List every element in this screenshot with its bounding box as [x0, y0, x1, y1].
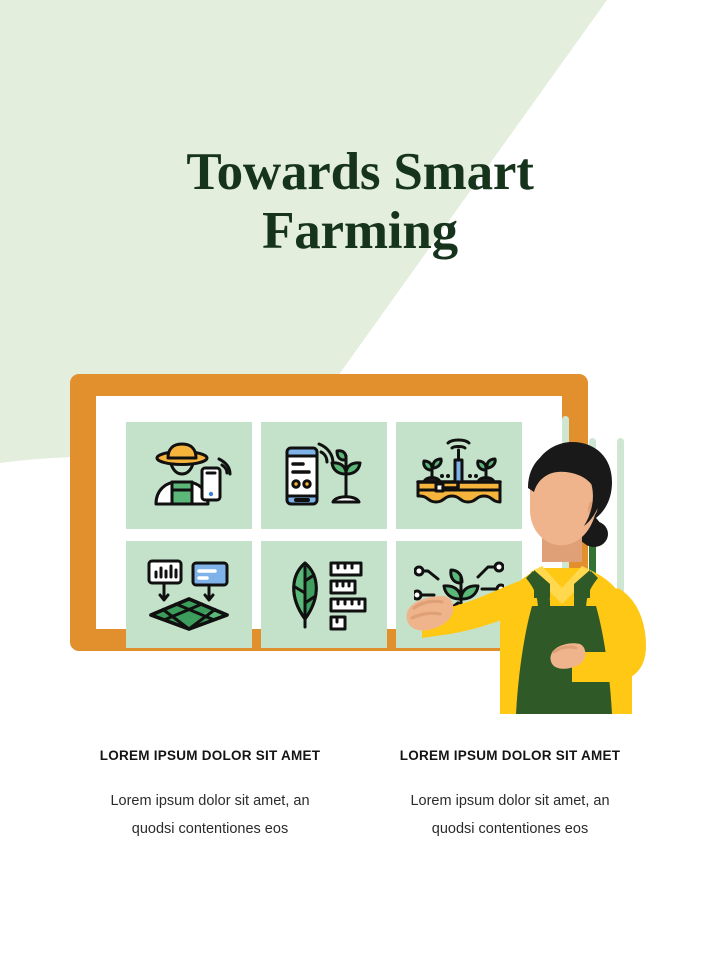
- column-1-heading: LOREM IPSUM DOLOR SIT AMET: [60, 748, 360, 763]
- page-title-line-2: Farming: [262, 202, 458, 260]
- icon-tile-field-data-analytics[interactable]: [126, 541, 252, 648]
- title-block: Towards Smart Farming: [60, 143, 660, 262]
- field-data-analytics-icon: [145, 557, 233, 633]
- poster-page: Towards Smart Farming: [0, 0, 720, 960]
- text-column-2: LOREM IPSUM DOLOR SIT AMET Lorem ipsum d…: [360, 748, 660, 844]
- page-title-line-1: Towards Smart: [186, 143, 533, 201]
- farmer-with-smartphone-icon: [146, 438, 232, 514]
- woman-presenter-illustration: [404, 438, 704, 714]
- column-1-body: Lorem ipsum dolor sit amet, an quodsi co…: [60, 787, 360, 844]
- bottom-text-columns: LOREM IPSUM DOLOR SIT AMET Lorem ipsum d…: [60, 748, 660, 844]
- column-2-body: Lorem ipsum dolor sit amet, an quodsi co…: [360, 787, 660, 844]
- page-title: Towards Smart Farming: [60, 143, 660, 262]
- icon-tile-farmer-with-smartphone[interactable]: [126, 422, 252, 529]
- icon-tile-leaf-measurement[interactable]: [261, 541, 387, 648]
- leaf-measurement-icon: [281, 557, 367, 633]
- smartphone-plant-monitoring-icon: [281, 438, 367, 514]
- text-column-1: LOREM IPSUM DOLOR SIT AMET Lorem ipsum d…: [60, 748, 360, 844]
- icon-tile-smartphone-plant-monitoring[interactable]: [261, 422, 387, 529]
- column-2-heading: LOREM IPSUM DOLOR SIT AMET: [360, 748, 660, 763]
